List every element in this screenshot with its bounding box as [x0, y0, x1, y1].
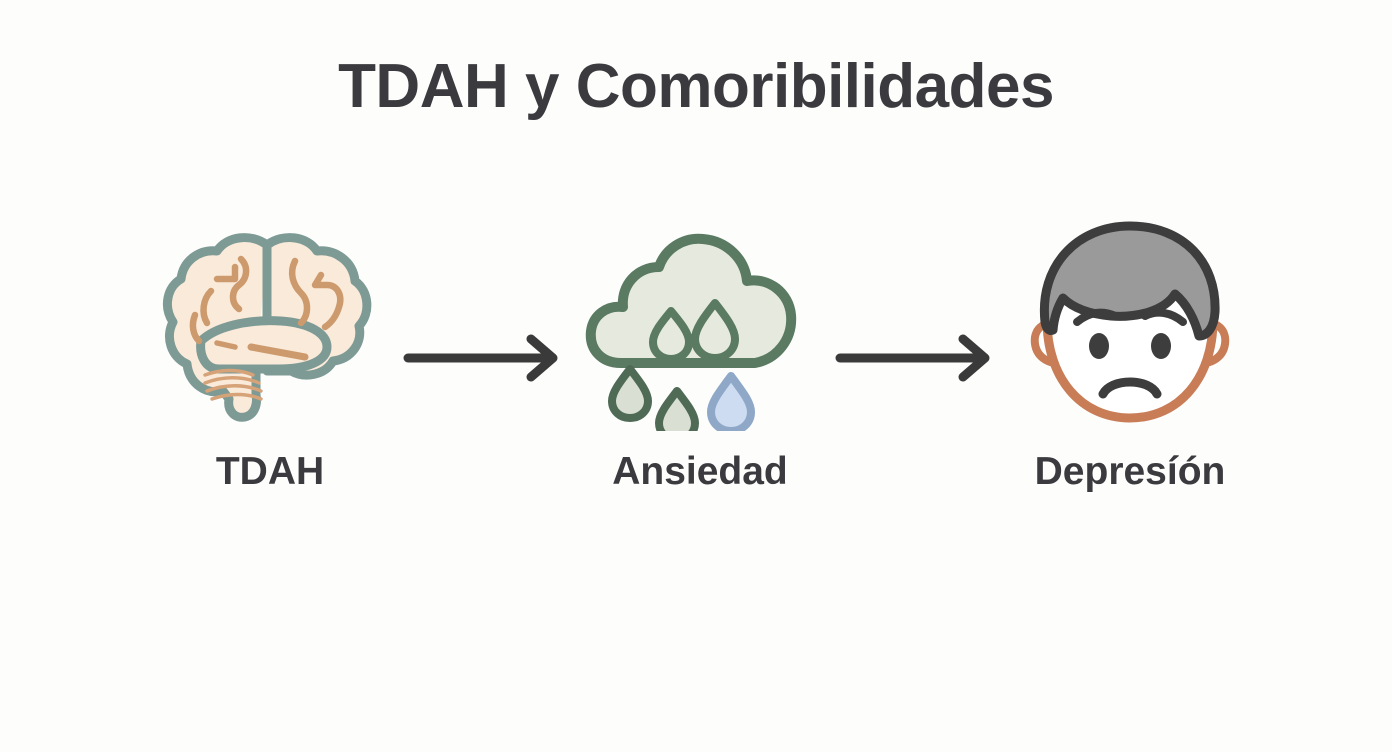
flow-node-label-ansiedad: Ansiedad — [570, 451, 830, 494]
falling-drop-2 — [659, 391, 695, 431]
falling-drop-1 — [612, 369, 648, 418]
page-title: TDAH y Comoribilidades — [0, 56, 1392, 118]
falling-drop-3 — [711, 376, 751, 431]
brain-icon-svg — [155, 223, 385, 428]
flow-node-depresion[interactable]: Depresíón — [1000, 215, 1260, 535]
arrow-right-icon-2 — [832, 328, 1012, 388]
face-eye-left — [1089, 333, 1109, 359]
infographic-canvas: TDAH y Comoribilidades — [0, 0, 1392, 752]
flow-diagram: TDAH — [120, 215, 1280, 535]
flow-node-ansiedad[interactable]: Ansiedad — [570, 215, 830, 535]
flow-node-tdah[interactable]: TDAH — [140, 215, 400, 535]
sad-face-icon — [1000, 215, 1260, 435]
arrow-right-icon-1 — [400, 328, 580, 388]
arrow-right-icon-1-svg — [400, 328, 580, 388]
rain-cloud-icon — [570, 215, 830, 435]
flow-node-label-depresion: Depresíón — [1000, 451, 1260, 494]
arrow-right-icon-2-svg — [832, 328, 1012, 388]
face-eye-right — [1151, 333, 1171, 359]
sad-face-icon-svg — [1019, 216, 1241, 434]
rain-cloud-icon-svg — [583, 219, 818, 431]
brain-icon — [140, 215, 400, 435]
flow-node-label-tdah: TDAH — [140, 451, 400, 494]
